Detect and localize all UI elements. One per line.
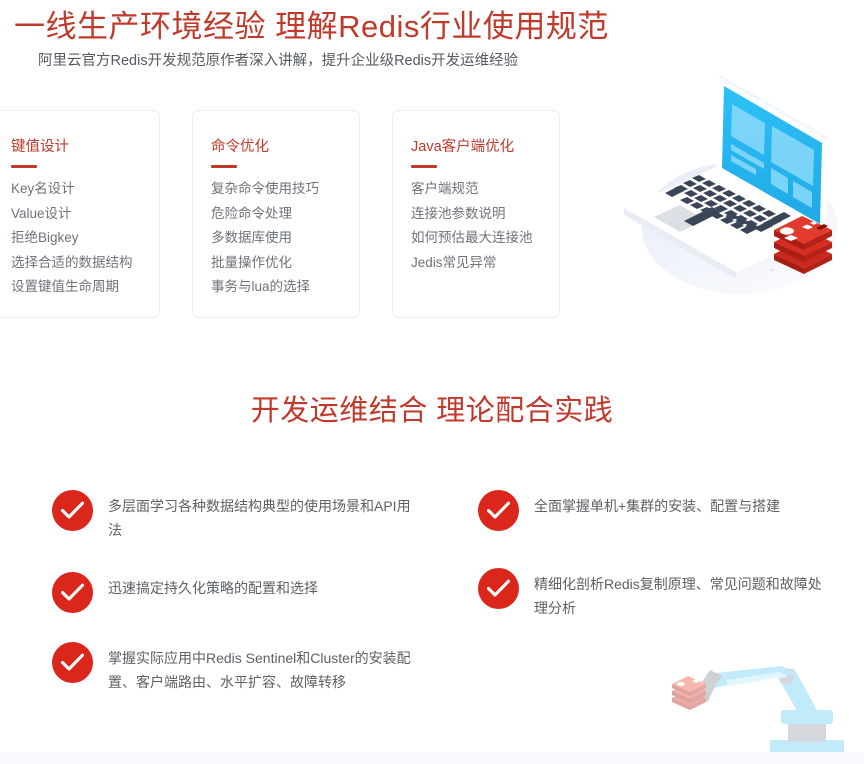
list-item: 如何预估最大连接池	[411, 226, 551, 251]
benefit-item: 精细化剖析Redis复制原理、常见问题和故障处理分析	[478, 566, 834, 620]
section-title: 开发运维结合 理论配合实践	[0, 392, 864, 430]
bottom-divider-band	[0, 752, 864, 764]
list-item: 选择合适的数据结构	[11, 251, 151, 276]
topic-card-java-client-optimization[interactable]: Java客户端优化 客户端规范 连接池参数说明 如何预估最大连接池 Jedis常…	[392, 110, 560, 318]
benefit-item: 全面掌握单机+集群的安装、配置与搭建	[478, 488, 780, 531]
topic-cards: 键值设计 Key名设计 Value设计 拒绝Bigkey 选择合适的数据结构 设…	[0, 110, 582, 320]
benefit-item: 掌握实际应用中Redis Sentinel和Cluster的安装配置、客户端路由…	[52, 640, 413, 694]
list-item: Key名设计	[11, 177, 151, 202]
benefit-text: 掌握实际应用中Redis Sentinel和Cluster的安装配置、客户端路由…	[108, 640, 413, 694]
benefit-text: 精细化剖析Redis复制原理、常见问题和故障处理分析	[534, 566, 834, 620]
benefit-item: 迅速搞定持久化策略的配置和选择	[52, 570, 318, 613]
check-circle-icon	[52, 642, 93, 683]
list-item: 批量操作优化	[211, 251, 351, 276]
title-underline	[411, 165, 437, 168]
title-underline	[11, 165, 37, 168]
list-item: 复杂命令使用技巧	[211, 177, 351, 202]
check-circle-icon	[478, 490, 519, 531]
card-title: 键值设计	[11, 137, 69, 157]
card-title: Java客户端优化	[411, 137, 514, 157]
benefit-item: 多层面学习各种数据结构典型的使用场景和API用法	[52, 488, 413, 542]
list-item: 事务与lua的选择	[211, 275, 351, 300]
list-item: Jedis常见异常	[411, 251, 551, 276]
benefit-text: 多层面学习各种数据结构典型的使用场景和API用法	[108, 488, 413, 542]
page-root: 一线生产环境经验 理解Redis行业使用规范 阿里云官方Redis开发规范原作者…	[0, 0, 864, 764]
benefit-text: 全面掌握单机+集群的安装、配置与搭建	[534, 488, 780, 518]
page-subtitle: 阿里云官方Redis开发规范原作者深入讲解，提升企业级Redis开发运维经验	[38, 50, 518, 72]
isometric-laptop-illustration	[588, 58, 864, 314]
robotic-arm-illustration	[648, 648, 864, 764]
check-circle-icon	[52, 490, 93, 531]
card-item-list: 客户端规范 连接池参数说明 如何预估最大连接池 Jedis常见异常	[411, 177, 551, 275]
list-item: 客户端规范	[411, 177, 551, 202]
title-underline	[211, 165, 237, 168]
list-item: 设置键值生命周期	[11, 275, 151, 300]
list-item: 多数据库使用	[211, 226, 351, 251]
topic-card-command-optimization[interactable]: 命令优化 复杂命令使用技巧 危险命令处理 多数据库使用 批量操作优化 事务与lu…	[192, 110, 360, 318]
page-title: 一线生产环境经验 理解Redis行业使用规范	[14, 8, 609, 46]
topic-card-key-value-design[interactable]: 键值设计 Key名设计 Value设计 拒绝Bigkey 选择合适的数据结构 设…	[0, 110, 160, 318]
card-item-list: Key名设计 Value设计 拒绝Bigkey 选择合适的数据结构 设置键值生命…	[11, 177, 151, 300]
list-item: 危险命令处理	[211, 202, 351, 227]
check-circle-icon	[478, 568, 519, 609]
check-circle-icon	[52, 572, 93, 613]
list-item: 连接池参数说明	[411, 202, 551, 227]
card-item-list: 复杂命令使用技巧 危险命令处理 多数据库使用 批量操作优化 事务与lua的选择	[211, 177, 351, 300]
benefit-text: 迅速搞定持久化策略的配置和选择	[108, 570, 318, 600]
list-item: Value设计	[11, 202, 151, 227]
list-item: 拒绝Bigkey	[11, 226, 151, 251]
card-title: 命令优化	[211, 137, 269, 157]
